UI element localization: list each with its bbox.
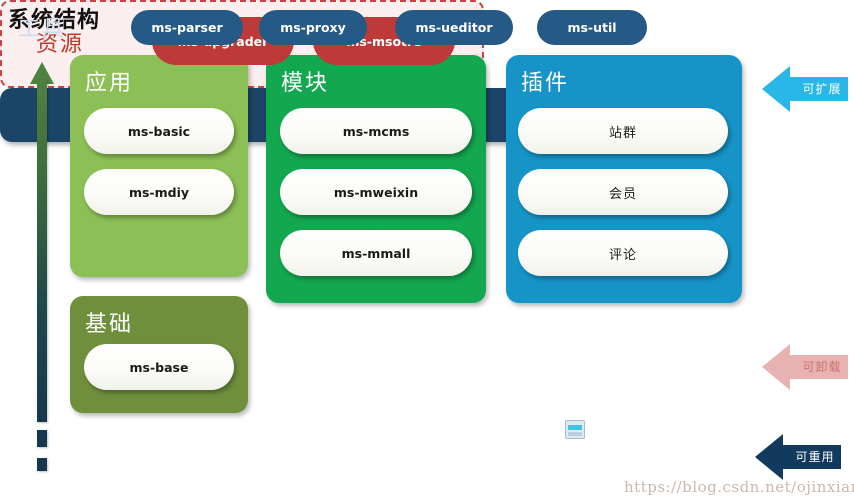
panel-module-title: 模块 bbox=[281, 65, 329, 97]
item-ms-mdiy[interactable]: ms-mdiy bbox=[84, 169, 234, 215]
item-zhanqun[interactable]: 站群 bbox=[518, 108, 728, 154]
panel-base-title: 基础 bbox=[85, 306, 133, 338]
item-ms-mmall[interactable]: ms-mmall bbox=[280, 230, 472, 276]
panel-plugin-title: 插件 bbox=[521, 65, 569, 97]
tools-badge-icon bbox=[565, 420, 585, 439]
arrow-reusable-label: 可重用 bbox=[789, 447, 841, 467]
item-ms-mcms[interactable]: ms-mcms bbox=[280, 108, 472, 154]
watermark: https://blog.csdn.net/ojinxian bbox=[624, 478, 854, 496]
panel-app-title: 应用 bbox=[85, 65, 133, 97]
vertical-layer-arrow bbox=[30, 62, 54, 422]
arrow-shaft bbox=[37, 80, 47, 422]
item-ms-base[interactable]: ms-base bbox=[84, 344, 234, 390]
item-ms-proxy[interactable]: ms-proxy bbox=[259, 10, 367, 45]
item-ms-parser[interactable]: ms-parser bbox=[131, 10, 243, 45]
item-ms-basic[interactable]: ms-basic bbox=[84, 108, 234, 154]
arrow-extensible: 可扩展 bbox=[762, 66, 848, 112]
panel-module[interactable]: 模块 ms-mcms ms-mweixin ms-mmall bbox=[266, 55, 486, 303]
item-pinglun[interactable]: 评论 bbox=[518, 230, 728, 276]
arrow-reusable: 可重用 bbox=[755, 434, 841, 480]
panel-plugin[interactable]: 插件 站群 会员 评论 bbox=[506, 55, 742, 303]
panel-base[interactable]: 基础 ms-base bbox=[70, 296, 248, 413]
item-huiyuan[interactable]: 会员 bbox=[518, 169, 728, 215]
panel-tools-title: 工具 bbox=[18, 11, 66, 43]
arrow-uninstall: 可卸载 bbox=[762, 344, 848, 390]
item-ms-ueditor[interactable]: ms-ueditor bbox=[395, 10, 513, 45]
panel-app[interactable]: 应用 ms-basic ms-mdiy bbox=[70, 55, 248, 277]
arrow-uninstall-label: 可卸载 bbox=[796, 357, 848, 377]
axis-dash-2 bbox=[37, 458, 47, 471]
arrow-extensible-label: 可扩展 bbox=[796, 79, 848, 99]
item-ms-mweixin[interactable]: ms-mweixin bbox=[280, 169, 472, 215]
arrow-left-icon bbox=[755, 434, 783, 480]
arrow-left-icon bbox=[762, 344, 790, 390]
arrow-left-icon bbox=[762, 66, 790, 112]
axis-dash-1 bbox=[37, 430, 47, 447]
item-ms-util[interactable]: ms-util bbox=[537, 10, 647, 45]
